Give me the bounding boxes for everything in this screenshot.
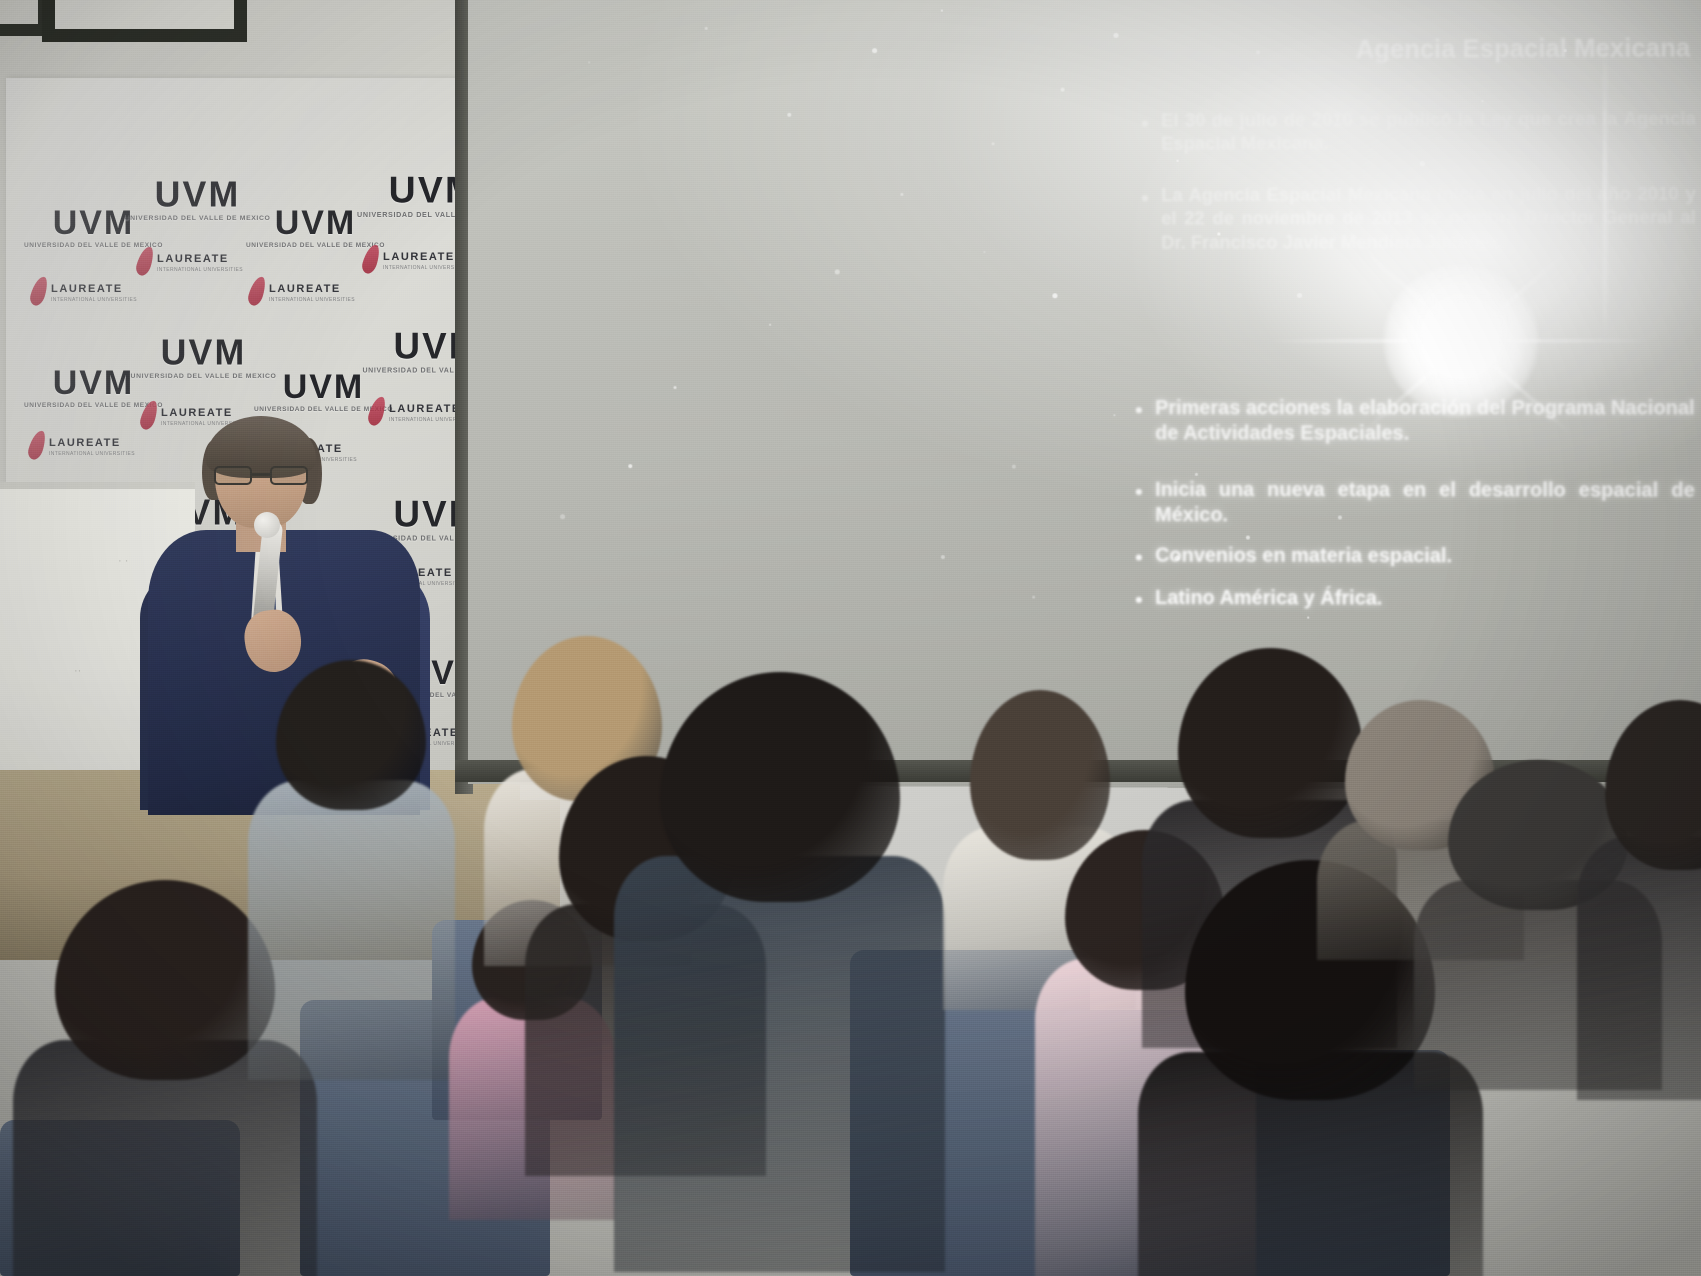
projector-dust-speck: [560, 514, 565, 519]
laureate-feather-icon: [28, 275, 50, 308]
laureate-logo: LAUREATEINTERNATIONAL UNIVERSITIES: [32, 276, 137, 306]
projector-dust-speck: [1061, 88, 1065, 92]
audience-person-head: [660, 672, 900, 902]
slide-bullet-faded-2: La Agencia Espacial Mexicana inicia en j…: [1142, 183, 1696, 255]
slide-bullet-faded-1: El 30 de julio de 2010 se publicó la Ley…: [1142, 107, 1696, 156]
laureate-logo-tagline: INTERNATIONAL UNIVERSITIES: [157, 267, 243, 273]
projector-dust-speck: [1481, 100, 1483, 102]
projector-dust-speck: [941, 10, 943, 12]
projector-dust-speck: [1564, 49, 1567, 52]
projector-dust-speck: [1177, 160, 1179, 162]
wall-picture-frame: [42, 0, 247, 42]
projector-dust-speck: [941, 555, 945, 559]
projector-dust-speck: [769, 324, 771, 326]
projector-dust-speck: [588, 61, 590, 63]
laureate-logo-text: LAUREATE: [51, 283, 123, 295]
slide-bullet-1: Primeras acciones la elaboración del Pro…: [1136, 396, 1695, 448]
laureate-logo-text: LAUREATE: [49, 437, 121, 449]
projector-dust-speck: [1113, 414, 1115, 416]
laureate-feather-icon: [26, 429, 48, 462]
projector-dust-speck: [1175, 556, 1180, 561]
person-edge-right: [1600, 700, 1701, 1100]
slide-bullet-3: Convenios en materia espacial.: [1136, 543, 1695, 570]
projector-dust-speck: [628, 464, 632, 468]
projector-dust-speck: [1256, 50, 1260, 54]
laureate-logo-text-wrap: LAUREATEINTERNATIONAL UNIVERSITIES: [51, 279, 137, 303]
whiteboard-mark: · ·: [118, 555, 128, 567]
projector-dust-speck: [1012, 465, 1016, 469]
laureate-logo-text-wrap: LAUREATEINTERNATIONAL UNIVERSITIES: [49, 433, 135, 457]
slide-bullet-4: Latino América y África.: [1136, 586, 1695, 613]
laureate-logo-text: LAUREATE: [157, 253, 229, 265]
laureate-logo-text: LAUREATE: [269, 283, 341, 295]
projector-dust-speck: [787, 113, 791, 117]
bullet-dot-icon: [1142, 195, 1148, 201]
audience-person-torso: [1577, 836, 1701, 1100]
person-grey-hoodie: [236, 660, 466, 1080]
uvm-logo-text: UVM: [131, 335, 277, 371]
whiteboard-mark: ··: [74, 665, 81, 677]
laureate-logo: LAUREATEINTERNATIONAL UNIVERSITIES: [250, 276, 355, 306]
projector-dust-speck: [1032, 596, 1035, 599]
eyeglass-lens-right: [270, 466, 308, 485]
projector-dust-speck: [1307, 617, 1309, 619]
bullet-dot-icon: [1142, 121, 1148, 127]
laureate-logo-text: LAUREATE: [389, 403, 461, 415]
eyeglass-lens-left: [214, 466, 252, 485]
laureate-feather-icon: [134, 245, 156, 278]
laureate-logo-text: LAUREATE: [383, 251, 455, 263]
projector-dust-speck: [1338, 515, 1342, 519]
projector-dust-speck: [992, 142, 995, 145]
projector-dust-speck: [983, 251, 985, 253]
presentation-photo: UVMUNIVERSIDAD DEL VALLE DE MEXICOUVMUNI…: [0, 0, 1701, 1276]
eyeglass-bridge: [252, 473, 270, 476]
slide-bullet-2: Inicia una nueva etapa en el desarrollo …: [1136, 478, 1695, 530]
lens-flare-spike-v: [1603, 45, 1606, 339]
microphone-head: [254, 512, 280, 538]
laureate-feather-icon: [360, 243, 382, 276]
projector-dust-speck: [872, 48, 877, 53]
projector-dust-speck: [1195, 473, 1198, 476]
laureate-feather-icon: [246, 275, 268, 308]
audience-person-head: [276, 660, 426, 810]
projector-dust-speck: [1246, 536, 1250, 540]
laureate-logo-text-wrap: LAUREATEINTERNATIONAL UNIVERSITIES: [269, 279, 355, 303]
slide-title: Agencia Espacial Mexicana: [1175, 33, 1701, 66]
laureate-logo-tagline: INTERNATIONAL UNIVERSITIES: [269, 297, 355, 303]
bullet-dot-icon: [1136, 554, 1142, 560]
projector-dust-speck: [1217, 232, 1220, 235]
laureate-logo-text: LAUREATE: [161, 407, 233, 419]
bullet-dot-icon: [1136, 489, 1142, 495]
projector-dust-speck: [1052, 293, 1057, 298]
laureate-logo-tagline: INTERNATIONAL UNIVERSITIES: [49, 451, 135, 457]
audience-person-torso: [614, 856, 945, 1272]
person-center-man: [630, 672, 930, 1272]
bullet-dot-icon: [1136, 597, 1142, 603]
projector-dust-speck: [1113, 33, 1118, 38]
laureate-logo: LAUREATEINTERNATIONAL UNIVERSITIES: [138, 246, 243, 276]
projector-dust-speck: [674, 386, 677, 389]
eyeglasses-icon: [212, 466, 312, 485]
projector-dust-speck: [1420, 161, 1425, 166]
laureate-logo-text-wrap: LAUREATEINTERNATIONAL UNIVERSITIES: [157, 249, 243, 273]
projector-dust-speck: [900, 193, 903, 196]
bullet-dot-icon: [1136, 407, 1142, 413]
projector-dust-speck: [1297, 293, 1302, 298]
laureate-logo: LAUREATEINTERNATIONAL UNIVERSITIES: [30, 430, 135, 460]
laureate-logo-tagline: INTERNATIONAL UNIVERSITIES: [51, 297, 137, 303]
projector-dust-speck: [705, 27, 708, 30]
projector-dust-speck: [835, 269, 840, 274]
laureate-logo: LAUREATEINTERNATIONAL UNIVERSITIES: [364, 244, 469, 274]
audience-person-torso: [248, 780, 455, 1080]
